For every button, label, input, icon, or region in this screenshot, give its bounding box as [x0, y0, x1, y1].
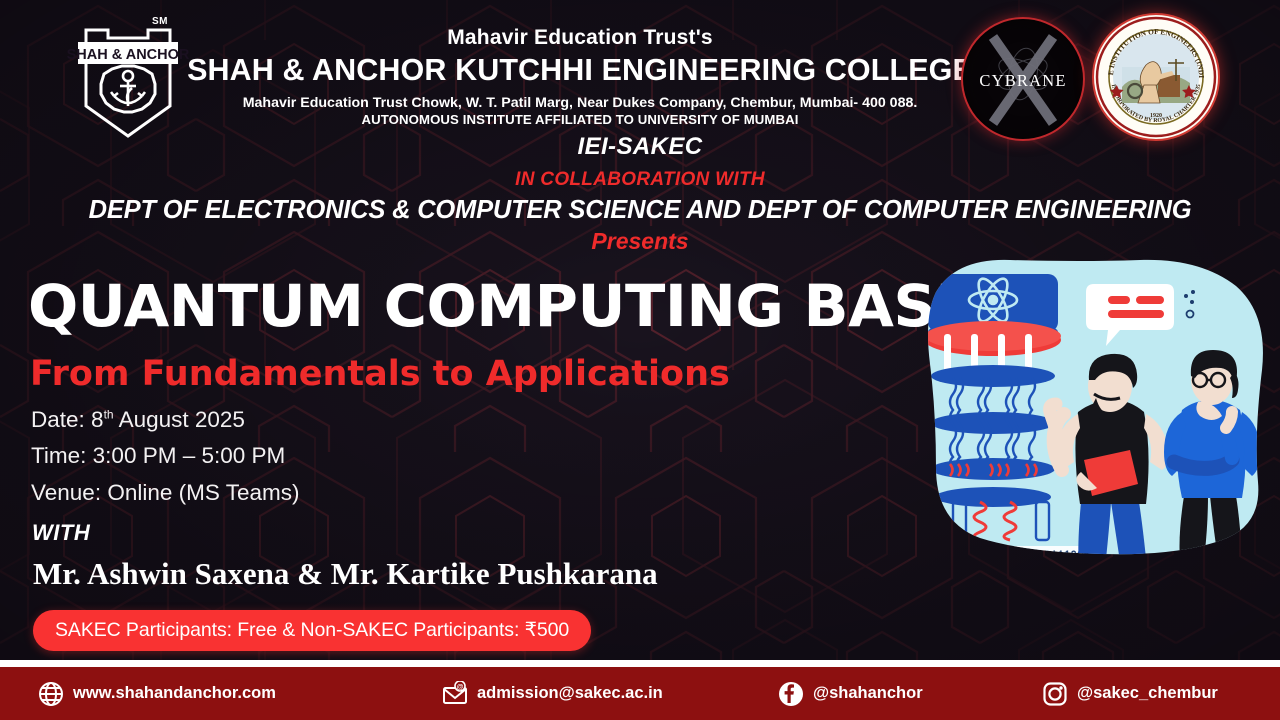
event-time-line: Time: 3:00 PM – 5:00 PM [31, 438, 299, 474]
instagram-icon [1042, 681, 1068, 707]
footer-divider [0, 660, 1280, 667]
footer-instagram-label: @sakec_chembur [1077, 684, 1218, 703]
svg-text:1920: 1920 [1150, 113, 1162, 119]
shah-and-anchor-crest-logo: SHAH & ANCHOR [62, 14, 194, 142]
event-venue-line: Venue: Online (MS Teams) [31, 475, 299, 511]
speaker-names: Mr. Ashwin Saxena & Mr. Kartike Pushkara… [33, 556, 658, 592]
sm-trademark: SM [152, 16, 168, 27]
footer-instagram[interactable]: @sakec_chembur [1042, 681, 1218, 707]
binary-string: 00011001111000 [998, 550, 1090, 562]
fee-badge: SAKEC Participants: Free & Non-SAKEC Par… [33, 610, 591, 651]
event-title: QUANTUM COMPUTING BASICS [28, 277, 1043, 335]
institution-of-engineers-india-logo: THE INSTITUTION OF ENGINEERS (INDIA) INC… [1092, 13, 1220, 141]
date-ordinal: th [104, 408, 114, 422]
event-date-line: Date: 8th August 2025 [31, 402, 299, 438]
footer-email-label: admission@sakec.ac.in [477, 684, 663, 703]
college-address: Mahavir Education Trust Chowk, W. T. Pat… [185, 94, 975, 112]
event-details: Date: 8th August 2025 Time: 3:00 PM – 5:… [31, 402, 299, 511]
cybrane-logo: CYBRANE [961, 17, 1085, 141]
college-affiliation: AUTONOMOUS INSTITUTE AFFILIATED TO UNIVE… [185, 112, 975, 129]
footer-facebook-label: @shahanchor [813, 684, 923, 703]
svg-text:@: @ [457, 684, 464, 691]
college-name: SHAH & ANCHOR KUTCHHI ENGINEERING COLLEG… [185, 52, 975, 89]
in-collaboration-with-label: IN COLLABORATION WITH [0, 169, 1280, 191]
date-month-year: August 2025 [119, 407, 245, 432]
svg-text:SHAH & ANCHOR: SHAH & ANCHOR [67, 47, 190, 63]
footer-email[interactable]: @ admission@sakec.ac.in [442, 681, 663, 707]
globe-icon [38, 681, 64, 707]
email-icon: @ [442, 681, 468, 707]
footer-website-label: www.shahandanchor.com [73, 684, 276, 703]
footer-website[interactable]: www.shahandanchor.com [38, 681, 276, 707]
trust-name: Mahavir Education Trust's [185, 26, 975, 50]
date-label: Date: [31, 407, 85, 432]
facebook-icon [778, 681, 804, 707]
footer-contact-bar: www.shahandanchor.com @ admission@sakec.… [0, 667, 1280, 720]
with-label: WITH [32, 520, 90, 546]
footer-facebook[interactable]: @shahanchor [778, 681, 923, 707]
gear-icon-large [991, 557, 1041, 600]
event-poster: SHAH & ANCHOR SM Mahavir Education Trust… [0, 0, 1280, 720]
organizer-name: IEI-SAKEC [0, 133, 1280, 161]
quantum-computer-illustration: 00011001111000 [898, 252, 1280, 600]
date-day: 8 [91, 407, 104, 432]
event-subtitle: From Fundamentals to Applications [30, 355, 730, 394]
gear-icon-small [952, 540, 990, 578]
svg-text:CYBRANE: CYBRANE [979, 71, 1066, 90]
college-header: Mahavir Education Trust's SHAH & ANCHOR … [185, 26, 975, 129]
presents-label: Presents [0, 228, 1280, 255]
departments-name: DEPT OF ELECTRONICS & COMPUTER SCIENCE A… [0, 196, 1280, 225]
